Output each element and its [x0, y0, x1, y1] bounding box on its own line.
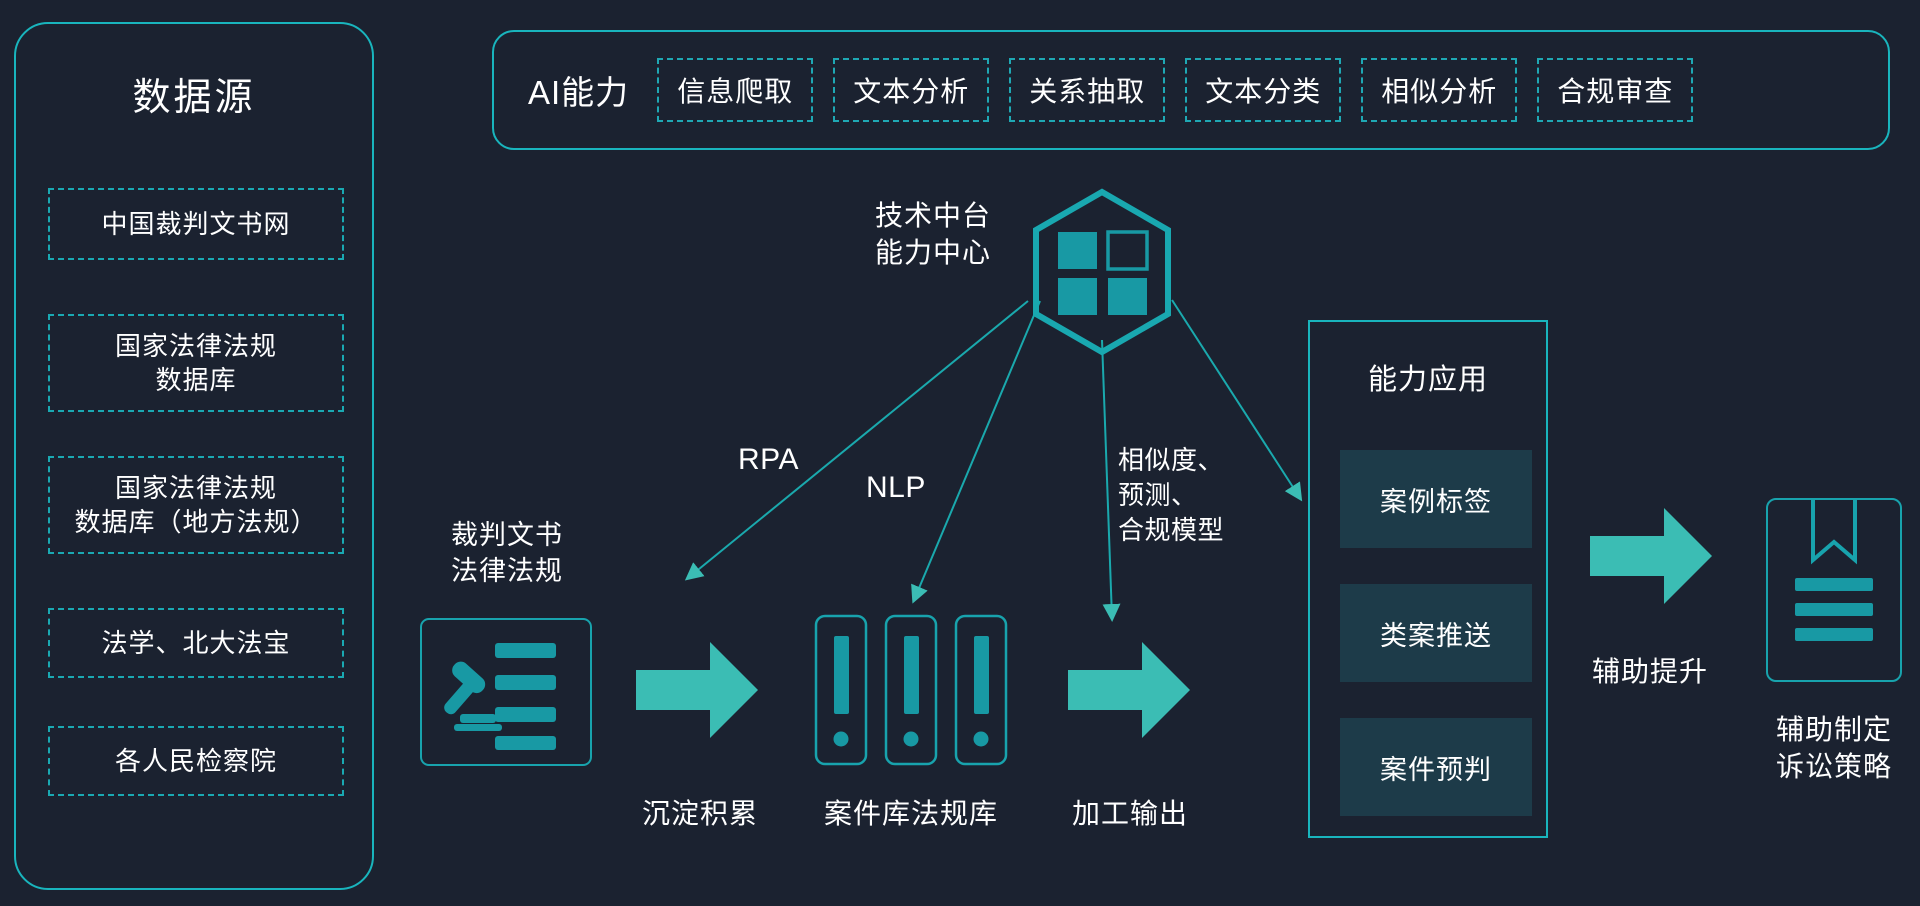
datasource-panel: 数据源 中国裁判文书网 国家法律法规数据库 国家法律法规数据库（地方法规） 法学… [14, 22, 374, 890]
ai-capability-title: AI能力 [528, 66, 629, 114]
outcome-arrow-caption: 辅助提升 [1580, 650, 1720, 690]
book-document-icon [1766, 498, 1902, 682]
ai-chip-information-crawling[interactable]: 信息爬取 [657, 58, 813, 122]
ai-chip-compliance-review[interactable]: 合规审查 [1537, 58, 1693, 122]
edge-label-rpa: RPA [738, 443, 799, 477]
datasource-item-label: 法学、北大法宝 [101, 626, 290, 660]
outcome-caption: 辅助制定诉讼策略 [1734, 712, 1920, 786]
judgment-document-icon [420, 618, 592, 766]
datasource-item-label: 各人民检察院 [115, 744, 277, 778]
capability-application-panel: 能力应用 案例标签 类案推送 案件预判 [1308, 320, 1548, 838]
hexagon-grid-icon [1030, 188, 1174, 356]
ai-chip-text-analysis[interactable]: 文本分析 [833, 58, 989, 122]
datasource-title: 数据源 [16, 66, 372, 121]
edge-nlp-line [914, 301, 1040, 600]
ai-capability-panel: AI能力 信息爬取 文本分析 关系抽取 文本分类 相似分析 合规审查 [492, 30, 1890, 150]
workflow-arrow-2 [1068, 642, 1190, 743]
diagram-canvas: 数据源 中国裁判文书网 国家法律法规数据库 国家法律法规数据库（地方法规） 法学… [0, 0, 1920, 906]
tech-center-label: 技术中台能力中心 [838, 198, 1028, 272]
case-law-repository-icon [814, 614, 1008, 771]
workflow-arrow-1 [636, 642, 758, 743]
ai-chip-text-classification[interactable]: 文本分类 [1185, 58, 1341, 122]
capability-item-similar-case-push[interactable]: 类案推送 [1340, 584, 1532, 682]
datasource-item-label: 国家法律法规数据库 [115, 329, 277, 398]
edge-label-nlp: NLP [866, 471, 926, 505]
workflow-caption-sedimentation: 沉淀积累 [620, 792, 780, 832]
capability-item-case-prediction[interactable]: 案件预判 [1340, 718, 1532, 816]
workflow-caption-processing-output: 加工输出 [1050, 792, 1210, 832]
datasource-item-1[interactable]: 国家法律法规数据库 [48, 314, 344, 412]
ai-chip-similarity-analysis[interactable]: 相似分析 [1361, 58, 1517, 122]
capability-item-case-tag[interactable]: 案例标签 [1340, 450, 1532, 548]
datasource-item-0[interactable]: 中国裁判文书网 [48, 188, 344, 260]
datasource-item-label: 国家法律法规数据库（地方法规） [74, 471, 317, 540]
edge-rpa-line [688, 301, 1028, 578]
judgment-doc-label: 裁判文书法律法规 [412, 518, 602, 589]
datasource-item-3[interactable]: 法学、北大法宝 [48, 608, 344, 678]
edge-processing-line [1102, 340, 1112, 618]
capability-application-title: 能力应用 [1310, 356, 1546, 398]
ai-chip-relation-extraction[interactable]: 关系抽取 [1009, 58, 1165, 122]
datasource-item-2[interactable]: 国家法律法规数据库（地方法规） [48, 456, 344, 554]
outcome-arrow [1590, 508, 1712, 609]
datasource-item-4[interactable]: 各人民检察院 [48, 726, 344, 796]
workflow-caption-case-law-repo: 案件库法规库 [798, 792, 1024, 832]
edge-label-similarity: 相似度、预测、合规模型 [1118, 443, 1224, 548]
datasource-item-label: 中国裁判文书网 [101, 207, 290, 241]
